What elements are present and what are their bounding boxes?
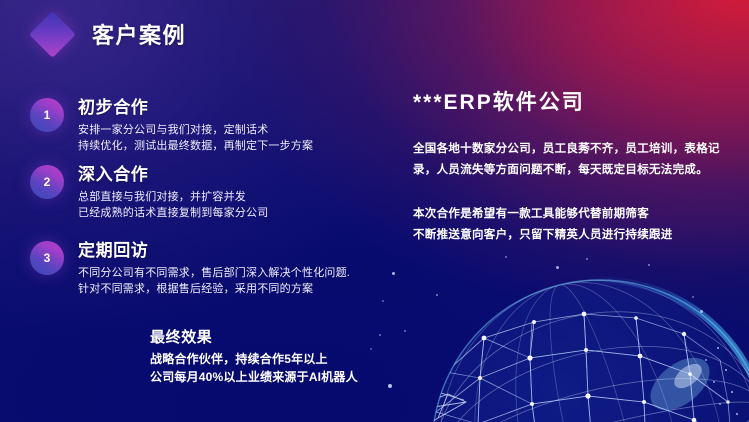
- slide-header: 客户案例: [0, 0, 749, 64]
- case-paragraph-goal: 本次合作是希望有一款工具能够代替前期筛客 不断推送意向客户，只留下精英人员进行持…: [413, 204, 733, 246]
- step-number-badge: 2: [30, 165, 64, 199]
- step-content: 初步合作 安排一家分公司与我们对接，定制话术 持续优化，测试出最终数据，再制定下…: [78, 98, 378, 154]
- step-description-line: 不同分公司有不同需求，售后部门深入解决个性化问题.: [78, 265, 378, 281]
- star-dot: [692, 296, 694, 298]
- star-dot: [586, 258, 588, 260]
- step-content: 定期回访 不同分公司有不同需求，售后部门深入解决个性化问题. 针对不同需求，根据…: [78, 241, 378, 297]
- case-paragraph-line: 本次合作是希望有一款工具能够代替前期筛客: [413, 204, 733, 225]
- star-dot: [700, 310, 703, 313]
- company-name-title: ***ERP软件公司: [413, 90, 733, 116]
- final-result-block: 最终效果 战略合作伙伴，持续合作5年以上 公司每月40%以上业绩来源于AI机器人: [150, 328, 450, 386]
- step-description-line: 已经成熟的话术直接复制到每家分公司: [78, 205, 378, 221]
- final-result-line: 战略合作伙伴，持续合作5年以上: [150, 350, 450, 368]
- star-dot: [382, 300, 384, 302]
- slide-canvas: 客户案例 1 初步合作 安排一家分公司与我们对接，定制话术 持续优化，测试出最终…: [0, 0, 749, 422]
- step-number-badge: 1: [30, 98, 64, 132]
- step-title: 定期回访: [78, 241, 378, 261]
- step-title: 初步合作: [78, 98, 378, 118]
- star-dot: [505, 256, 507, 258]
- final-result-line: 公司每月40%以上业绩来源于AI机器人: [150, 368, 450, 386]
- star-dot: [392, 272, 395, 275]
- step-description-line: 持续优化，测试出最终数据，再制定下一步方案: [78, 138, 378, 154]
- page-title: 客户案例: [92, 18, 186, 50]
- final-result-title: 最终效果: [150, 328, 450, 347]
- star-dot: [436, 294, 438, 296]
- case-paragraph-line: 不断推送意向客户，只留下精英人员进行持续跟进: [413, 225, 733, 246]
- star-dot: [556, 266, 559, 269]
- step-description-line: 总部直接与我们对接，并扩容并发: [78, 189, 378, 205]
- diamond-icon: [29, 11, 76, 58]
- case-detail-panel: ***ERP软件公司 全国各地十数家分公司，员工良莠不齐，员工培训，表格记 录，…: [413, 90, 733, 246]
- case-paragraph-problem: 全国各地十数家分公司，员工良莠不齐，员工培训，表格记 录，人员流失等方面问题不断…: [413, 139, 733, 181]
- step-title: 深入合作: [78, 165, 378, 185]
- step-content: 深入合作 总部直接与我们对接，并扩容并发 已经成熟的话术直接复制到每家分公司: [78, 165, 378, 221]
- case-paragraph-line: 录，人员流失等方面问题不断，每天既定目标无法完成。: [413, 160, 733, 181]
- star-dot: [648, 264, 650, 266]
- case-paragraph-line: 全国各地十数家分公司，员工良莠不齐，员工培训，表格记: [413, 139, 733, 160]
- step-number-badge: 3: [30, 241, 64, 275]
- step-description-line: 安排一家分公司与我们对接，定制话术: [78, 122, 378, 138]
- step-description-line: 针对不同需求，根据售后经验，采用不同的方案: [78, 281, 378, 297]
